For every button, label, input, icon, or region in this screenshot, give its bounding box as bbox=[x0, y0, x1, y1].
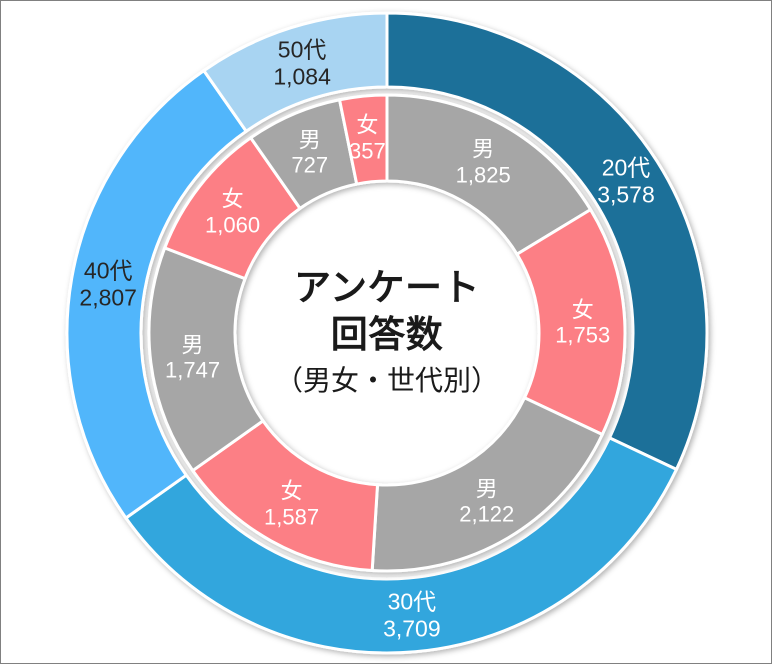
inner-ring-segments[interactable] bbox=[149, 95, 625, 571]
donut-chart[interactable] bbox=[1, 1, 772, 665]
chart-frame: 男1,825女1,753男2,122女1,587男1,747女1,060男727… bbox=[0, 0, 772, 664]
